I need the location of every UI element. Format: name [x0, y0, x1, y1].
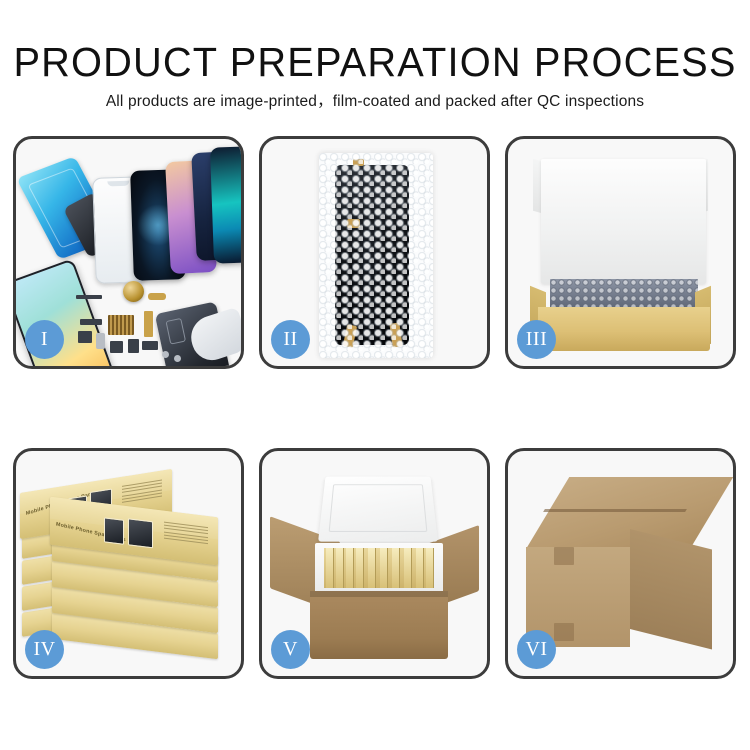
process-step-panel-2: II: [259, 136, 490, 369]
part-speaker-icon: [110, 341, 123, 353]
part-bracket-icon: [80, 319, 102, 325]
product-preparation-infographic: PRODUCT PREPARATION PROCESS All products…: [0, 0, 750, 750]
part-flex-cable-icon: [144, 311, 153, 337]
page-title: PRODUCT PREPARATION PROCESS: [11, 0, 739, 84]
sealed-carton-right-face-icon: [630, 529, 712, 649]
process-step-panel-4: Mobile Phone Spare Parts Mobile Phone Sp…: [13, 448, 244, 679]
part-connector-icon: [142, 341, 158, 350]
process-step-grid: I II: [13, 136, 737, 679]
carton-tab-upper-icon: [554, 547, 574, 565]
process-step-panel-3: III: [505, 136, 736, 369]
header: PRODUCT PREPARATION PROCESS All products…: [0, 0, 750, 112]
tape-lower-right-icon: [389, 322, 402, 347]
process-step-panel-1: I: [13, 136, 244, 369]
step-badge-3: III: [517, 320, 556, 359]
tape-mid-icon: [347, 219, 360, 228]
kraft-box-front-icon: [538, 307, 710, 351]
spare-parts-cluster: [76, 289, 196, 369]
packed-yellow-boxes-icon: [324, 548, 434, 588]
part-sim-tray-icon: [96, 333, 105, 349]
bubble-wrap-bag-icon: [319, 153, 433, 358]
carton-tape-seam-icon: [543, 509, 687, 512]
wrapped-flex-cable-icon: [361, 223, 377, 341]
carton-tab-lower-icon: [554, 623, 574, 641]
wrapped-screen-icon: [335, 165, 409, 345]
process-step-panel-5: V: [259, 448, 490, 679]
step-badge-1: I: [25, 320, 64, 359]
foam-lid-icon: [318, 477, 438, 542]
box-artwork-chip-right-1: [104, 517, 124, 544]
process-step-panel-6: VI: [505, 448, 736, 679]
page-subtitle: All products are image-printed，film-coat…: [0, 84, 750, 112]
box-spec-lines-right: [164, 522, 208, 547]
tape-top-icon: [353, 159, 364, 166]
white-box-lid-icon: [541, 159, 706, 284]
box-artwork-chip-right-2: [128, 518, 153, 548]
part-gold-clip-icon: [148, 293, 166, 300]
step-badge-5: V: [271, 630, 310, 669]
copper-coil-icon: [123, 281, 144, 302]
step-badge-4: IV: [25, 630, 64, 669]
part-board-icon: [108, 315, 134, 335]
part-camera-icon: [128, 339, 139, 353]
part-screw-2-icon: [174, 355, 181, 362]
part-screw-icon: [162, 351, 169, 358]
step-badge-2: II: [271, 320, 310, 359]
carton-front-icon: [310, 591, 448, 659]
teal-phone-icon: [210, 146, 244, 263]
tape-lower-left-icon: [343, 324, 357, 348]
part-strip-icon: [76, 295, 102, 299]
step-badge-6: VI: [517, 630, 556, 669]
part-block-icon: [78, 331, 92, 343]
